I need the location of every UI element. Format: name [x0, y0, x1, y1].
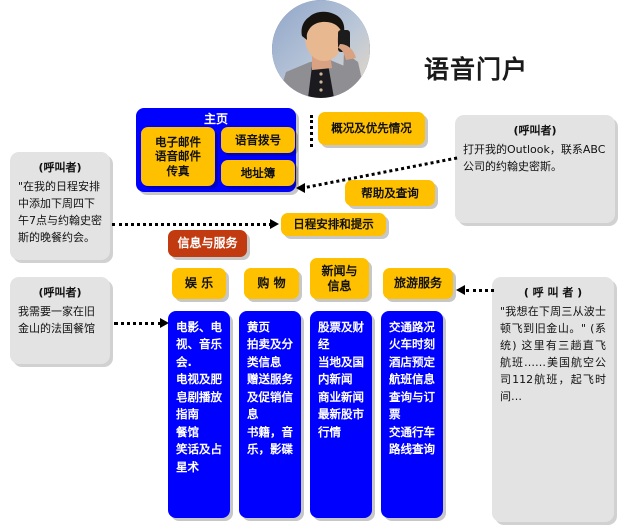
list-item: 火车时刻: [389, 336, 437, 353]
column-entertainment[interactable]: 电影、电 视、音乐 会. 电视及肥 皂剧播放 指南 餐馆 笑话及占 星术: [168, 311, 230, 518]
list-item: 及促销信: [247, 389, 295, 406]
btn-fax-label: 传真: [167, 164, 190, 178]
list-item: 票: [389, 406, 437, 423]
callout-text: "在我的日程安排中添加下周四下午7点与约翰史密斯的晚餐约会。: [18, 178, 102, 246]
list-item: 乐，影碟: [247, 441, 295, 458]
list-item: 交通行车: [389, 424, 437, 441]
list-item: 股票及财: [318, 319, 366, 336]
btn-address-book[interactable]: 地址簿: [221, 160, 295, 186]
list-item: 最新股市: [318, 406, 366, 423]
list-item: 内新闻: [318, 371, 366, 388]
callout-text: 打开我的Outlook，联系ABC公司的约翰史密斯。: [463, 141, 607, 175]
callout-caller-schedule: (呼叫者) "在我的日程安排中添加下周四下午7点与约翰史密斯的晚餐约会。: [10, 152, 110, 260]
list-item: 经: [318, 336, 366, 353]
column-shopping[interactable]: 黄页 拍卖及分 类信息 赠送服务 及促销信 息 书籍，音 乐，影碟: [239, 311, 301, 518]
list-item: 皂剧播放: [176, 389, 224, 406]
callout-speaker-label: ( 呼 叫 者 ): [500, 284, 606, 300]
list-item: 星术: [176, 459, 224, 476]
list-item: 赠送服务: [247, 371, 295, 388]
list-item: 行情: [318, 424, 366, 441]
list-item: 路线查询: [389, 441, 437, 458]
node-overview[interactable]: 概况及优先情况: [318, 112, 425, 145]
caller-photo: [272, 0, 370, 98]
callout-caller-restaurant: (呼叫者) 我需要一家在旧金山的法国餐馆: [10, 277, 110, 364]
list-item: 会.: [176, 354, 224, 371]
category-news-line2: 信息: [327, 279, 351, 294]
callout-speaker-label: (呼叫者): [18, 159, 102, 175]
page-title: 语音门户: [424, 50, 528, 86]
callout-speaker-label: (呼叫者): [18, 284, 102, 300]
category-entertainment[interactable]: 娱 乐: [172, 268, 226, 299]
list-item: 类信息: [247, 354, 295, 371]
btn-voice-dial[interactable]: 语音拨号: [221, 127, 295, 153]
category-travel[interactable]: 旅游服务: [383, 268, 453, 299]
category-shopping[interactable]: 购 物: [244, 268, 299, 299]
node-schedule[interactable]: 日程安排和提示: [281, 213, 386, 236]
callout-text: 我需要一家在旧金山的法国餐馆: [18, 303, 102, 337]
list-item: 电影、电: [176, 319, 224, 336]
node-info-services[interactable]: 信息与服务: [168, 230, 247, 257]
list-item: 餐馆: [176, 424, 224, 441]
btn-voicemail-label: 语音邮件: [155, 149, 201, 163]
list-item: 拍卖及分: [247, 336, 295, 353]
list-item: 商业新闻: [318, 389, 366, 406]
list-item: 黄页: [247, 319, 295, 336]
home-panel-label: 主页: [136, 110, 296, 127]
list-item: 当地及国: [318, 354, 366, 371]
list-item: 航班信息: [389, 371, 437, 388]
btn-email-group[interactable]: 电子邮件 语音邮件 传真: [141, 127, 215, 186]
callout-speaker-label: (呼叫者): [463, 122, 607, 138]
list-item: 笑话及占: [176, 441, 224, 458]
category-news[interactable]: 新闻与 信息: [310, 258, 369, 299]
list-item: 交通路况: [389, 319, 437, 336]
list-item: 息: [247, 406, 295, 423]
list-item: 电视及肥: [176, 371, 224, 388]
column-news[interactable]: 股票及财 经 当地及国 内新闻 商业新闻 最新股市 行情: [310, 311, 372, 518]
column-travel[interactable]: 交通路况 火车时刻 酒店预定 航班信息 查询与订 票 交通行车 路线查询: [381, 311, 443, 518]
node-help-query[interactable]: 帮助及查询: [345, 180, 435, 206]
callout-caller-outlook: (呼叫者) 打开我的Outlook，联系ABC公司的约翰史密斯。: [455, 115, 615, 223]
list-item: 查询与订: [389, 389, 437, 406]
list-item: 酒店预定: [389, 354, 437, 371]
list-item: 视、音乐: [176, 336, 224, 353]
list-item: 指南: [176, 406, 224, 423]
category-news-line1: 新闻与: [321, 264, 357, 279]
btn-email-label: 电子邮件: [155, 135, 201, 149]
diagram-canvas: 语音门户 主页 电子邮件 语音邮件 传真 语音拨号 地址簿 概况及优先情况 帮助…: [0, 0, 622, 530]
callout-caller-flight: ( 呼 叫 者 ) "我想在下周三从波士顿飞到旧金山。" (系统) 这里有三趟直…: [492, 277, 614, 522]
list-item: 书籍，音: [247, 424, 295, 441]
callout-text: "我想在下周三从波士顿飞到旧金山。" (系统) 这里有三趟直飞航班……美国航空公…: [500, 303, 606, 405]
